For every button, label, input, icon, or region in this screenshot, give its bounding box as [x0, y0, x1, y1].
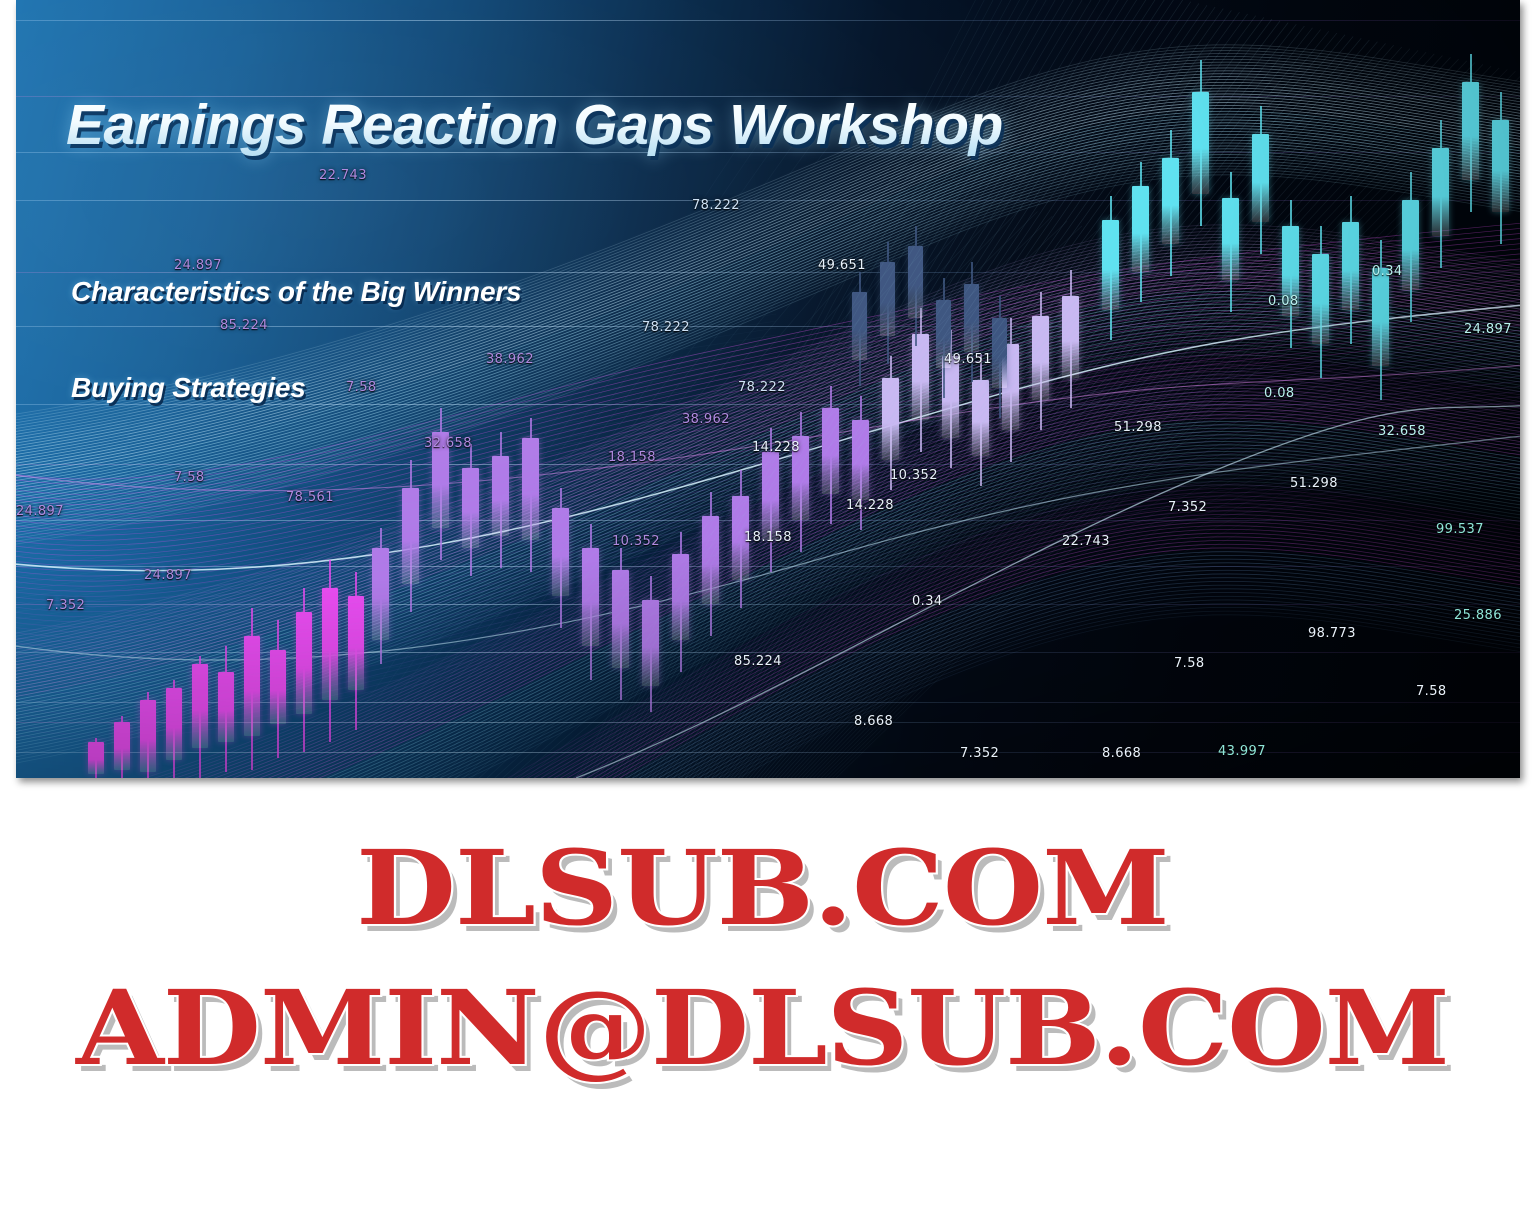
price-label: 24.897: [174, 258, 222, 273]
price-label: 25.886: [1454, 608, 1502, 623]
price-label: 0.08: [1264, 386, 1295, 401]
price-label: 24.897: [1464, 322, 1512, 337]
price-label: 51.298: [1290, 476, 1338, 491]
price-label: 18.158: [608, 450, 656, 465]
price-label: 98.773: [1308, 626, 1356, 641]
price-label: 7.352: [1168, 500, 1207, 515]
price-label: 85.224: [734, 654, 782, 669]
price-label: 14.228: [752, 440, 800, 455]
price-label: 99.537: [1436, 522, 1484, 537]
price-label: 38.962: [682, 412, 730, 427]
price-label: 49.651: [818, 258, 866, 273]
price-label: 49.651: [944, 352, 992, 367]
price-label: 10.352: [890, 468, 938, 483]
price-label: 7.58: [1174, 656, 1205, 671]
price-label: 10.352: [612, 534, 660, 549]
banner-image: 22.74378.22224.89749.65178.22285.2240.34…: [16, 0, 1520, 778]
price-label: 7.58: [346, 380, 377, 395]
price-label: 24.897: [16, 504, 64, 519]
price-label: 22.743: [319, 168, 367, 183]
price-label: 14.228: [846, 498, 894, 513]
price-label: 38.962: [486, 352, 534, 367]
price-label: 78.222: [738, 380, 786, 395]
price-label: 0.34: [912, 594, 943, 609]
price-label: 7.352: [46, 598, 85, 613]
subtitle-characteristics: Characteristics of the Big Winners: [71, 276, 521, 308]
price-label: 78.561: [286, 490, 334, 505]
price-label: 78.222: [692, 198, 740, 213]
price-label: 51.298: [1114, 420, 1162, 435]
page-title: Earnings Reaction Gaps Workshop: [66, 92, 1003, 158]
price-label: 43.997: [1218, 744, 1266, 759]
price-label: 24.897: [144, 568, 192, 583]
price-label: 32.658: [1378, 424, 1426, 439]
price-label: 8.668: [1102, 746, 1141, 761]
price-label: 7.58: [1416, 684, 1447, 699]
price-label: 7.58: [174, 470, 205, 485]
subtitle-buying-strategies: Buying Strategies: [71, 372, 306, 404]
price-label: 18.158: [744, 530, 792, 545]
price-label: 85.224: [220, 318, 268, 333]
price-label: 0.34: [1372, 264, 1403, 279]
price-label: 22.743: [1062, 534, 1110, 549]
price-label: 78.222: [642, 320, 690, 335]
price-label: 0.08: [1268, 294, 1299, 309]
watermark-email-text: ADMIN@DLSUB.COM: [76, 968, 1449, 1089]
watermark-site-text: DLSUB.COM: [356, 828, 1169, 949]
price-label: 8.668: [854, 714, 893, 729]
price-label: 32.658: [424, 436, 472, 451]
price-label: 7.352: [960, 746, 999, 761]
